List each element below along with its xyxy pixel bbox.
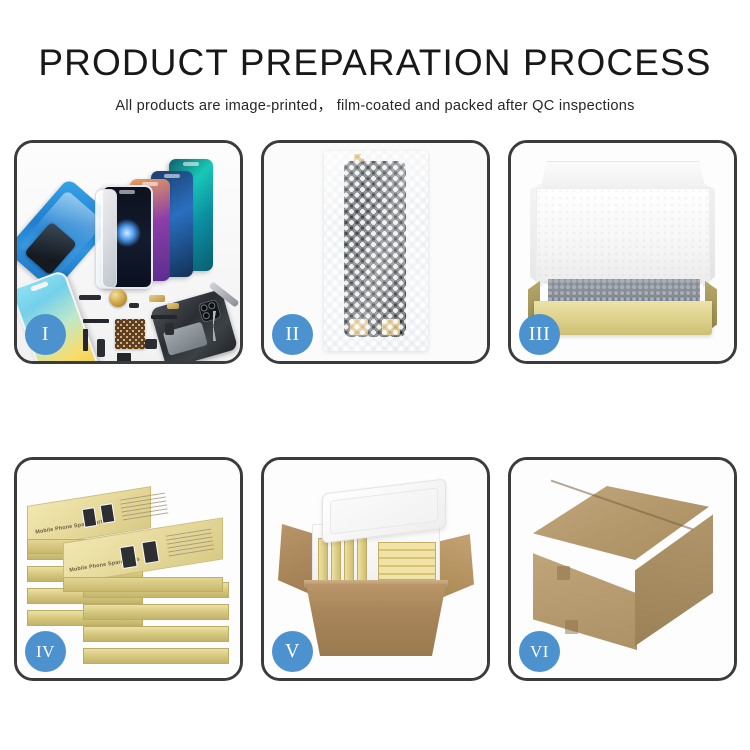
header: PRODUCT PREPARATION PROCESS All products… <box>0 0 750 115</box>
panel-step-6: VI <box>508 457 737 681</box>
box-lid <box>540 161 706 191</box>
step-badge-3: III <box>519 314 560 355</box>
panel-step-4: Mobile Phone Spare Parts Mobile Phone Sp… <box>14 457 243 681</box>
product-preparation-infographic: PRODUCT PREPARATION PROCESS All products… <box>0 0 750 750</box>
yellow-boxes-group <box>318 538 436 582</box>
step-badge-6: VI <box>519 631 560 672</box>
part-speaker-coil <box>109 289 127 307</box>
part-chip-5 <box>165 323 174 335</box>
part-flex-cable-3 <box>151 315 177 319</box>
tempered-glass-sheet <box>95 189 117 289</box>
panel-step-3: III <box>508 140 737 364</box>
part-gold-connector-1 <box>149 295 165 302</box>
part-flex-cable-2 <box>83 329 88 351</box>
box-slab-7 <box>83 626 229 642</box>
box-screen-thumb-1 <box>82 507 98 528</box>
bag-sheen <box>324 151 428 351</box>
yellow-box-2 <box>331 538 341 582</box>
sealed-carton <box>527 486 719 656</box>
carton-tape-mark-2 <box>565 620 578 634</box>
step-badge-2: II <box>272 314 313 355</box>
box-slab-6 <box>83 604 229 620</box>
yellow-box-4 <box>357 538 367 582</box>
part-flex-cable-1 <box>83 319 109 323</box>
carton-body <box>306 584 446 656</box>
carton-tape-mark-1 <box>557 566 570 580</box>
step-badge-4: IV <box>25 631 66 672</box>
panel-step-5: V <box>261 457 490 681</box>
box-slab-8 <box>83 648 229 664</box>
box-screen-thumb-2 <box>100 503 116 524</box>
part-gold-connector-2 <box>167 303 179 309</box>
box-screen-thumb-3 <box>119 545 137 569</box>
part-chip-4 <box>145 339 157 349</box>
part-chip-1 <box>79 295 101 300</box>
yellow-box-1 <box>318 538 328 582</box>
yellow-boxes-flat-stack <box>378 542 436 580</box>
white-foam-liner <box>536 188 710 284</box>
box-screen-thumb-4 <box>141 540 159 564</box>
part-chip-array <box>115 319 145 349</box>
process-step-grid: I II <box>14 140 737 682</box>
step-badge-5: V <box>272 631 313 672</box>
open-yellow-box <box>528 161 717 339</box>
part-chip-2 <box>129 303 139 308</box>
part-flex-cable-4 <box>117 353 131 361</box>
bubble-wrap-bag <box>324 151 428 351</box>
step-badge-1: I <box>25 314 66 355</box>
panel-step-2: II <box>261 140 490 364</box>
page-title: PRODUCT PREPARATION PROCESS <box>0 44 750 81</box>
page-subtitle: All products are image-printed， film-coa… <box>0 94 750 115</box>
yellow-box-3 <box>344 538 354 582</box>
tweezers-tool <box>213 311 239 341</box>
open-kraft-carton <box>278 482 474 656</box>
panel-step-1: I <box>14 140 243 364</box>
part-chip-3 <box>97 339 105 357</box>
box-front-panel <box>534 301 712 335</box>
phone-fan-group <box>95 159 235 285</box>
